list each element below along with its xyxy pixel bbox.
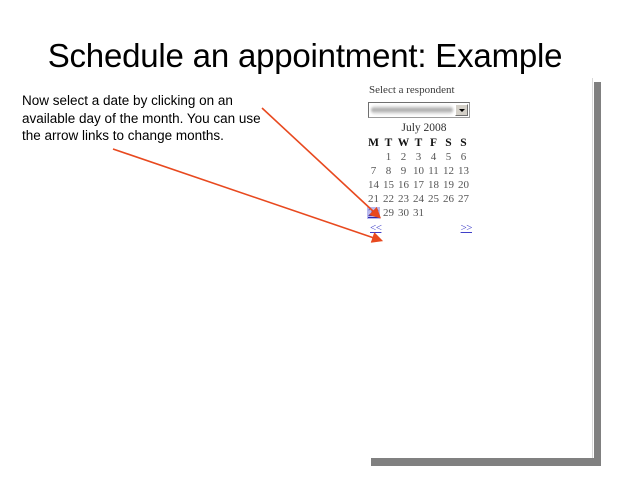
- calendar-day-cell: 19: [441, 178, 456, 192]
- calendar-day-cell: 10: [411, 164, 426, 178]
- slide-shadow-bottom: [371, 458, 601, 466]
- next-month-link[interactable]: >>: [461, 222, 472, 234]
- calendar-day-header: T: [411, 136, 426, 150]
- calendar-week-row: 14 15 16 17 18 19 20: [366, 178, 471, 192]
- page-title: Schedule an appointment: Example: [0, 36, 610, 76]
- calendar-day-cell: 29: [381, 206, 396, 220]
- calendar-day-cell: 27: [456, 192, 471, 206]
- calendar-month-label: July 2008: [366, 121, 478, 135]
- respondent-label: Select a respondent: [369, 84, 478, 97]
- calendar: July 2008 M T W T F S S: [366, 121, 478, 236]
- slide-shadow-right: [594, 82, 601, 465]
- calendar-day-header: W: [396, 136, 411, 150]
- arrow-to-month-nav: [113, 149, 374, 238]
- calendar-day-cell: 21: [366, 192, 381, 206]
- calendar-day-cell: 20: [456, 178, 471, 192]
- calendar-day-cell: 25: [426, 192, 441, 206]
- calendar-day-cell: 2: [396, 150, 411, 164]
- calendar-day-cell: 7: [366, 164, 381, 178]
- calendar-day-cell: 8: [381, 164, 396, 178]
- calendar-day-cell: 1: [381, 150, 396, 164]
- calendar-day-cell: 16: [396, 178, 411, 192]
- calendar-day-cell: 18: [426, 178, 441, 192]
- respondent-select-value: [371, 105, 453, 115]
- calendar-day-cell: 12: [441, 164, 456, 178]
- arrow-to-day-link: [262, 108, 374, 212]
- calendar-grid: M T W T F S S 1 2 3 4: [366, 136, 471, 220]
- calendar-week-row: 21 22 23 24 25 26 27: [366, 192, 471, 206]
- calendar-day-cell: 6: [456, 150, 471, 164]
- respondent-select[interactable]: [368, 102, 470, 118]
- calendar-header-row: M T W T F S S: [366, 136, 471, 150]
- calendar-day-cell: 11: [426, 164, 441, 178]
- calendar-day-cell: 24: [411, 192, 426, 206]
- calendar-week-row: 7 8 9 10 11 12 13: [366, 164, 471, 178]
- appointment-picker-widget: Select a respondent July 2008 M T W T F …: [366, 84, 478, 236]
- calendar-day-cell: 30: [396, 206, 411, 220]
- calendar-week-row: 28 29 30 31: [366, 206, 471, 220]
- calendar-day-cell: 17: [411, 178, 426, 192]
- prev-month-link[interactable]: <<: [370, 222, 381, 234]
- calendar-day-header: S: [456, 136, 471, 150]
- calendar-navigation: << >>: [366, 222, 472, 236]
- calendar-day-link[interactable]: 28: [367, 207, 380, 219]
- calendar-day-header: S: [441, 136, 456, 150]
- calendar-day-cell-selected[interactable]: 28: [366, 206, 381, 220]
- calendar-day-header: T: [381, 136, 396, 150]
- chevron-down-icon[interactable]: [455, 104, 468, 116]
- calendar-day-cell: 22: [381, 192, 396, 206]
- calendar-day-cell: 3: [411, 150, 426, 164]
- calendar-day-cell: 14: [366, 178, 381, 192]
- calendar-day-cell: 13: [456, 164, 471, 178]
- calendar-day-cell: [441, 206, 456, 220]
- calendar-day-cell: [366, 150, 381, 164]
- calendar-day-cell: 23: [396, 192, 411, 206]
- slide-frame-right-edge: [592, 78, 593, 460]
- calendar-day-header: F: [426, 136, 441, 150]
- calendar-day-cell: 15: [381, 178, 396, 192]
- calendar-week-row: 1 2 3 4 5 6: [366, 150, 471, 164]
- calendar-day-cell: [456, 206, 471, 220]
- slide-canvas: Schedule an appointment: Example Now sel…: [0, 0, 640, 480]
- calendar-day-cell: 26: [441, 192, 456, 206]
- calendar-day-header: M: [366, 136, 381, 150]
- calendar-day-cell: [426, 206, 441, 220]
- calendar-day-cell: 9: [396, 164, 411, 178]
- instruction-text: Now select a date by clicking on an avai…: [22, 92, 272, 145]
- calendar-day-cell: 5: [441, 150, 456, 164]
- calendar-day-cell: 31: [411, 206, 426, 220]
- calendar-day-cell: 4: [426, 150, 441, 164]
